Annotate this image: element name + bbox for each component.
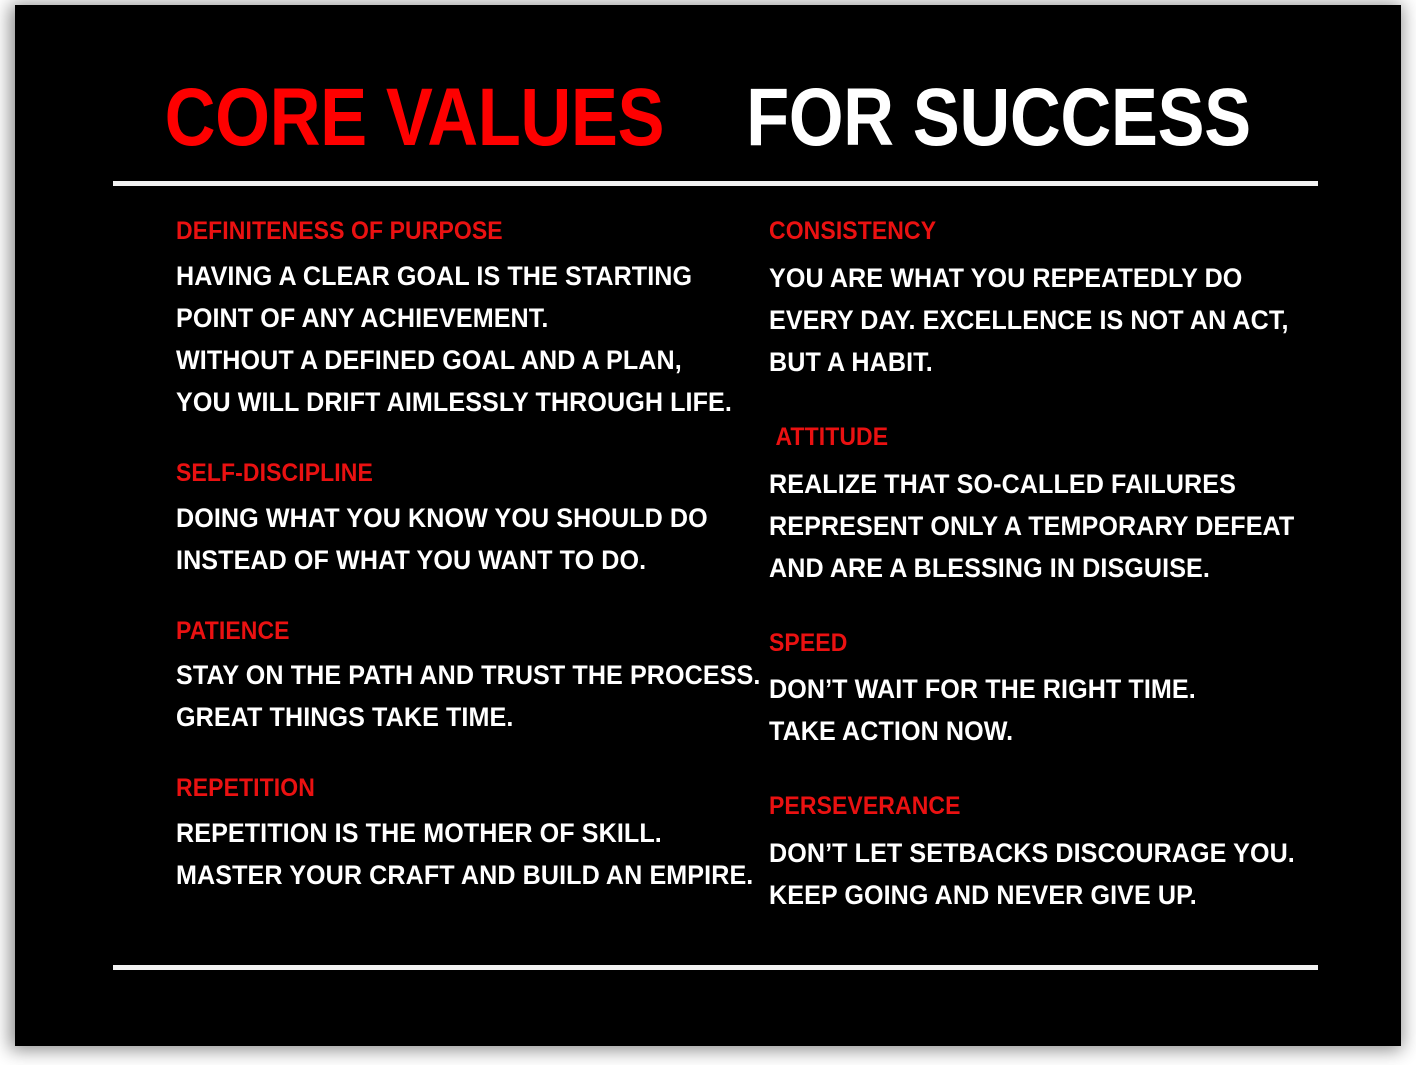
page-title: CORE VALUESFOR SUCCESS [15,77,1401,159]
value-body-line: WITHOUT A DEFINED GOAL AND A PLAN, [176,339,734,381]
value-body: DON’T LET SETBACKS DISCOURAGE YOU.KEEP G… [769,832,1369,916]
value-section: ATTITUDEREALIZE THAT SO-CALLED FAILURESR… [769,423,1369,589]
title-white-text: FOR SUCCESS [746,77,1251,159]
value-section: DEFINITENESS OF PURPOSEHAVING A CLEAR GO… [176,217,776,423]
value-body-line: YOU WILL DRIFT AIMLESSLY THROUGH LIFE. [176,381,734,423]
value-section: PERSEVERANCEDON’T LET SETBACKS DISCOURAG… [769,792,1369,916]
title-red-text: CORE VALUES [165,77,664,159]
page-canvas: CORE VALUESFOR SUCCESS DEFINITENESS OF P… [0,0,1416,1065]
value-body-line: POINT OF ANY ACHIEVEMENT. [176,297,734,339]
value-body: STAY ON THE PATH AND TRUST THE PROCESS.G… [176,654,776,738]
value-body: REALIZE THAT SO-CALLED FAILURESREPRESENT… [769,463,1369,589]
value-body-line: REPETITION IS THE MOTHER OF SKILL. [176,812,734,854]
divider-rule-top [113,181,1318,186]
value-heading: DEFINITENESS OF PURPOSE [176,217,728,246]
value-body: YOU ARE WHAT YOU REPEATEDLY DOEVERY DAY.… [769,257,1369,383]
value-body-line: HAVING A CLEAR GOAL IS THE STARTING [176,255,734,297]
value-body-line: DON’T WAIT FOR THE RIGHT TIME. [769,668,1327,710]
poster-board: CORE VALUESFOR SUCCESS DEFINITENESS OF P… [15,5,1401,1046]
value-body-line: AND ARE A BLESSING IN DISGUISE. [769,547,1327,589]
value-heading: REPETITION [176,774,728,803]
value-body: REPETITION IS THE MOTHER OF SKILL.MASTER… [176,812,776,896]
value-body-line: BUT A HABIT. [769,341,1327,383]
value-section: REPETITIONREPETITION IS THE MOTHER OF SK… [176,774,776,896]
divider-rule-bottom [113,965,1318,970]
value-body-line: REALIZE THAT SO-CALLED FAILURES [769,463,1327,505]
value-body-line: GREAT THINGS TAKE TIME. [176,696,734,738]
value-heading: ATTITUDE [769,423,1321,452]
value-body-line: EVERY DAY. EXCELLENCE IS NOT AN ACT, [769,299,1327,341]
value-heading: SELF-DISCIPLINE [176,459,728,488]
value-body-line: INSTEAD OF WHAT YOU WANT TO DO. [176,539,734,581]
values-column-left: DEFINITENESS OF PURPOSEHAVING A CLEAR GO… [176,217,776,896]
value-body-line: YOU ARE WHAT YOU REPEATEDLY DO [769,257,1327,299]
value-body-line: TAKE ACTION NOW. [769,710,1327,752]
value-section: PATIENCESTAY ON THE PATH AND TRUST THE P… [176,617,776,739]
value-heading: CONSISTENCY [769,217,1321,246]
value-body-line: DON’T LET SETBACKS DISCOURAGE YOU. [769,832,1327,874]
values-columns: DEFINITENESS OF PURPOSEHAVING A CLEAR GO… [15,217,1401,947]
value-section: SPEEDDON’T WAIT FOR THE RIGHT TIME.TAKE … [769,629,1369,753]
value-section: SELF-DISCIPLINEDOING WHAT YOU KNOW YOU S… [176,459,776,581]
value-section: CONSISTENCYYOU ARE WHAT YOU REPEATEDLY D… [769,217,1369,383]
value-body-line: STAY ON THE PATH AND TRUST THE PROCESS. [176,654,734,696]
value-body: HAVING A CLEAR GOAL IS THE STARTINGPOINT… [176,255,776,423]
values-column-right: CONSISTENCYYOU ARE WHAT YOU REPEATEDLY D… [769,217,1369,956]
value-body: DON’T WAIT FOR THE RIGHT TIME.TAKE ACTIO… [769,668,1369,752]
value-body: DOING WHAT YOU KNOW YOU SHOULD DOINSTEAD… [176,497,776,581]
value-heading: PATIENCE [176,617,728,646]
value-body-line: KEEP GOING AND NEVER GIVE UP. [769,874,1327,916]
value-body-line: MASTER YOUR CRAFT AND BUILD AN EMPIRE. [176,854,734,896]
value-body-line: DOING WHAT YOU KNOW YOU SHOULD DO [176,497,734,539]
value-heading: SPEED [769,629,1321,658]
value-heading: PERSEVERANCE [769,792,1321,821]
value-body-line: REPRESENT ONLY A TEMPORARY DEFEAT [769,505,1327,547]
